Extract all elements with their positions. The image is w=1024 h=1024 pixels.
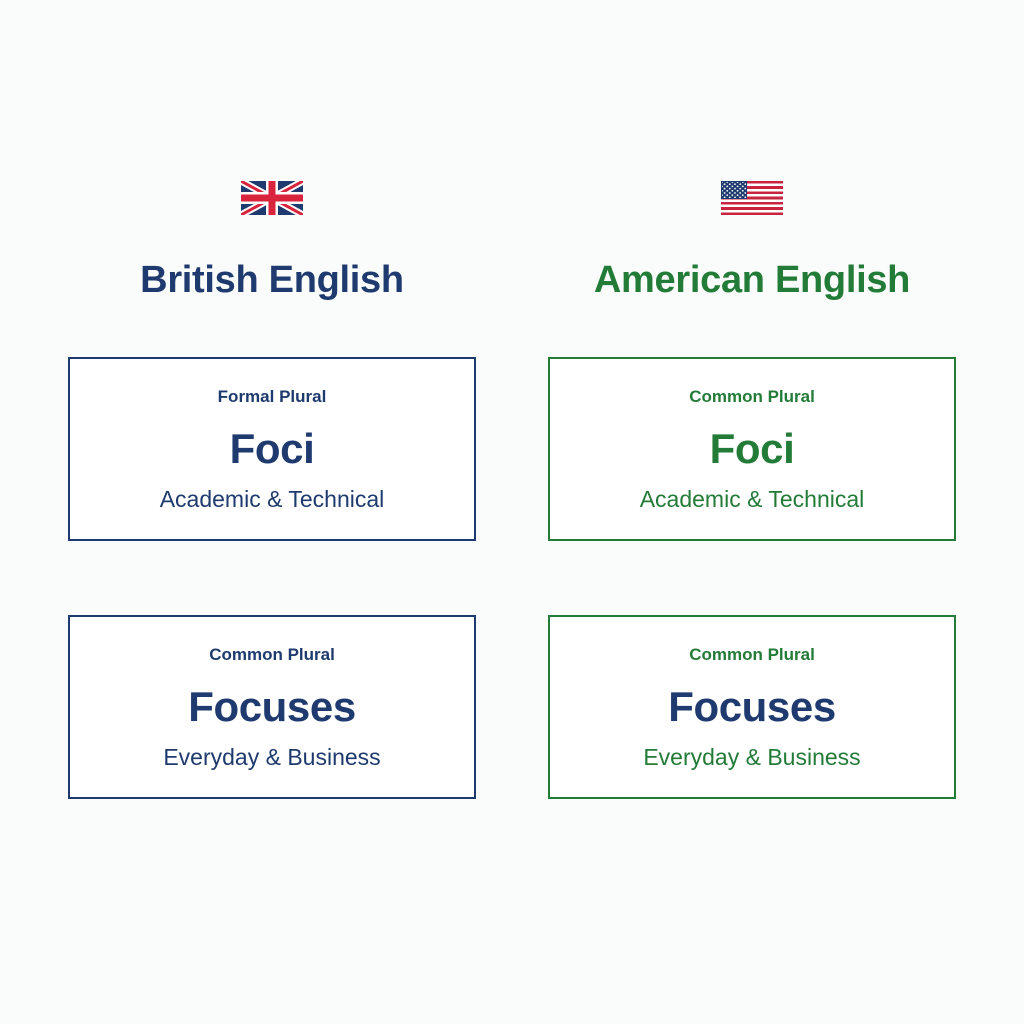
american-cards-list: Common Plural Foci Academic & Technical …	[548, 357, 956, 799]
card-subtitle: Everyday & Business	[163, 746, 380, 769]
flag-cross-red-vertical	[269, 181, 276, 215]
card-label: Common Plural	[209, 646, 335, 663]
card-label: Formal Plural	[218, 388, 327, 405]
card-british-common-plural: Common Plural Focuses Everyday & Busines…	[68, 615, 476, 799]
british-column-header: British English	[68, 0, 476, 299]
american-column-header: American English	[548, 0, 956, 299]
card-american-common-plural-focuses: Common Plural Focuses Everyday & Busines…	[548, 615, 956, 799]
column-american-english: American English Common Plural Foci Acad…	[548, 0, 956, 1024]
union-jack-flag-icon	[241, 181, 303, 215]
british-column-title: British English	[140, 261, 404, 299]
card-label: Common Plural	[689, 388, 815, 405]
card-word: Focuses	[188, 686, 356, 728]
american-column-title: American English	[594, 261, 910, 299]
card-label: Common Plural	[689, 646, 815, 663]
card-word: Focuses	[668, 686, 836, 728]
stars-and-stripes-flag-icon	[721, 181, 783, 215]
card-american-common-plural-foci: Common Plural Foci Academic & Technical	[548, 357, 956, 541]
column-british-english: British English Formal Plural Foci Acade…	[68, 0, 476, 1024]
british-cards-list: Formal Plural Foci Academic & Technical …	[68, 357, 476, 799]
card-word: Foci	[230, 428, 315, 470]
card-subtitle: Academic & Technical	[640, 488, 865, 511]
card-word: Foci	[710, 428, 795, 470]
card-british-formal-plural: Formal Plural Foci Academic & Technical	[68, 357, 476, 541]
card-subtitle: Everyday & Business	[643, 746, 860, 769]
flag-star-canton	[721, 181, 747, 199]
comparison-board: British English Formal Plural Foci Acade…	[0, 0, 1024, 1024]
card-subtitle: Academic & Technical	[160, 488, 385, 511]
